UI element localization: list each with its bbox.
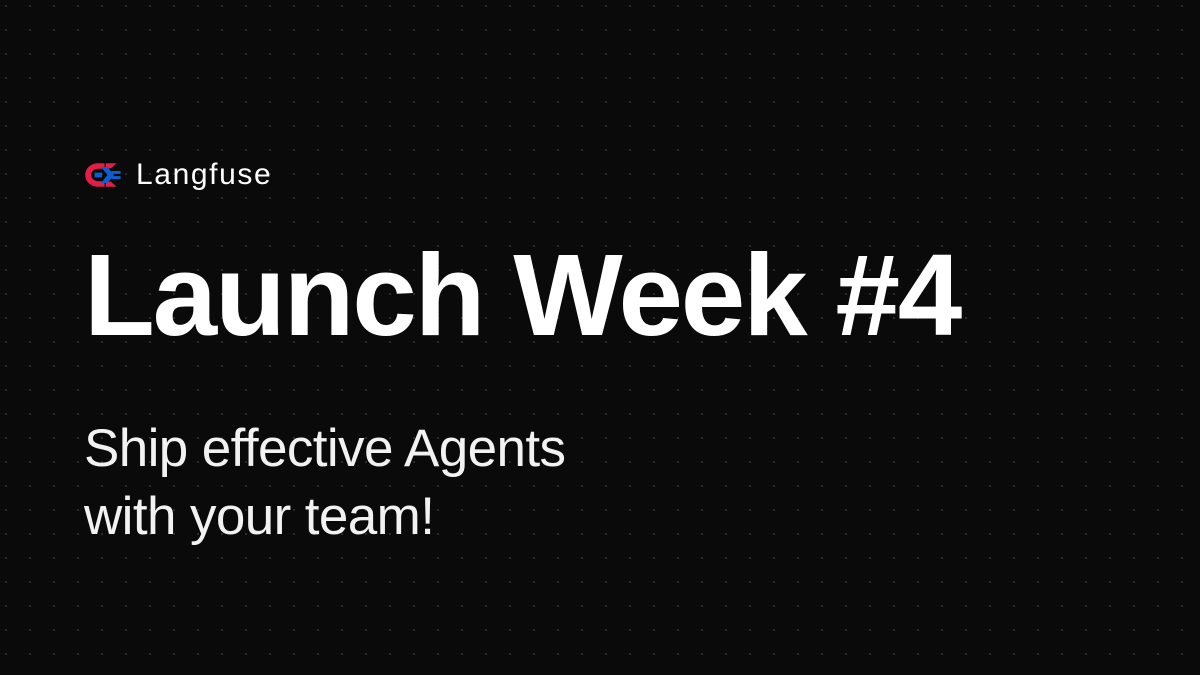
brand-name: Langfuse	[136, 160, 272, 190]
brand-lockup: Langfuse	[84, 158, 1144, 192]
page-title: Launch Week #4	[84, 237, 1144, 353]
page-subtitle: Ship effective Agents with your team!	[84, 415, 1144, 551]
subtitle-line-2: with your team!	[84, 483, 1144, 551]
subtitle-line-1: Ship effective Agents	[84, 415, 1144, 483]
langfuse-logo-icon	[84, 162, 122, 188]
hero-content: Langfuse Launch Week #4 Ship effective A…	[84, 0, 1144, 675]
